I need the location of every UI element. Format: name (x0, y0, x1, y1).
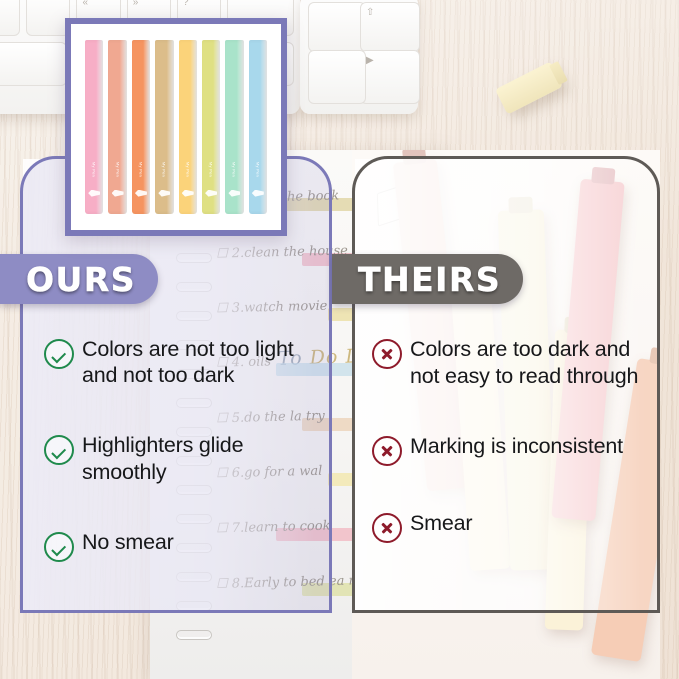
highlighter-pen-yellow: My Pen (179, 40, 197, 214)
pen-label: My Pen (232, 162, 237, 177)
infographic-canvas: B « » ? ⇧ ▶ To Do LIST ☐ 1.Read the book… (0, 0, 679, 679)
highlighter-pen-tan: My Pen (155, 40, 173, 214)
badge-theirs: THEIRS (332, 254, 523, 304)
feature-item: Smear (372, 510, 650, 543)
spiral-ring (176, 630, 212, 640)
pen-arrow-icon (135, 190, 147, 197)
highlighter-pen-row: My PenMy PenMy PenMy PenMy PenMy PenMy P… (85, 40, 267, 214)
pen-label: My Pen (162, 162, 167, 177)
keyboard-right-block: ⇧ ▶ (300, 0, 418, 114)
pen-label: My Pen (92, 162, 97, 177)
feature-text: Marking is inconsistent (410, 433, 623, 460)
badge-ours-label: OURS (26, 260, 136, 299)
feature-text: Smear (410, 510, 472, 537)
feature-item: Highlighters glide smoothly (44, 432, 318, 484)
pen-arrow-icon (205, 190, 217, 197)
badge-theirs-label: THEIRS (358, 260, 501, 299)
pen-arrow-icon (252, 190, 264, 197)
keyboard-key (308, 2, 366, 52)
highlighter-pen-pink: My Pen (85, 40, 103, 214)
highlighter-pen-peach: My Pen (108, 40, 126, 214)
pen-label: My Pen (185, 162, 190, 177)
product-inset-card: My PenMy PenMy PenMy PenMy PenMy PenMy P… (65, 18, 287, 236)
feature-text: Highlighters glide smoothly (82, 432, 318, 484)
badge-ours: OURS (0, 254, 158, 304)
x-circle-icon (372, 436, 402, 466)
feature-item: Colors are too dark and not easy to read… (372, 336, 650, 389)
check-circle-icon (44, 435, 74, 465)
feature-list-ours: Colors are not too light and not too dar… (44, 336, 318, 606)
x-circle-icon (372, 339, 402, 369)
feature-item: No smear (44, 529, 318, 562)
keyboard-key: ▶ (360, 50, 420, 104)
highlighter-pen-yellow-green: My Pen (202, 40, 220, 214)
feature-item: Colors are not too light and not too dar… (44, 336, 318, 388)
pen-label: My Pen (115, 162, 120, 177)
comparison-panel-theirs: THEIRS Colors are too dark and not easy … (352, 156, 660, 613)
pen-arrow-icon (88, 190, 100, 197)
pen-arrow-icon (158, 190, 170, 197)
feature-text: No smear (82, 529, 174, 555)
pen-label: My Pen (138, 162, 143, 177)
feature-text: Colors are too dark and not easy to read… (410, 336, 650, 389)
pen-arrow-icon (182, 190, 194, 197)
feature-item: Marking is inconsistent (372, 433, 650, 466)
keyboard-key (0, 42, 67, 86)
x-circle-icon (372, 513, 402, 543)
keyboard-key (308, 50, 366, 104)
pen-arrow-icon (228, 190, 240, 197)
highlighter-pen-orange: My Pen (132, 40, 150, 214)
keyboard-key (26, 0, 70, 36)
pen-label: My Pen (209, 162, 214, 177)
check-circle-icon (44, 339, 74, 369)
feature-text: Colors are not too light and not too dar… (82, 336, 318, 388)
pen-label: My Pen (255, 162, 260, 177)
keyboard-key: B (0, 0, 20, 36)
highlighter-pen-light-blue: My Pen (249, 40, 267, 214)
highlighter-pen-mint: My Pen (225, 40, 243, 214)
check-circle-icon (44, 532, 74, 562)
pen-arrow-icon (112, 190, 124, 197)
keyboard-key: ⇧ (360, 2, 420, 52)
feature-list-theirs: Colors are too dark and not easy to read… (372, 336, 650, 587)
